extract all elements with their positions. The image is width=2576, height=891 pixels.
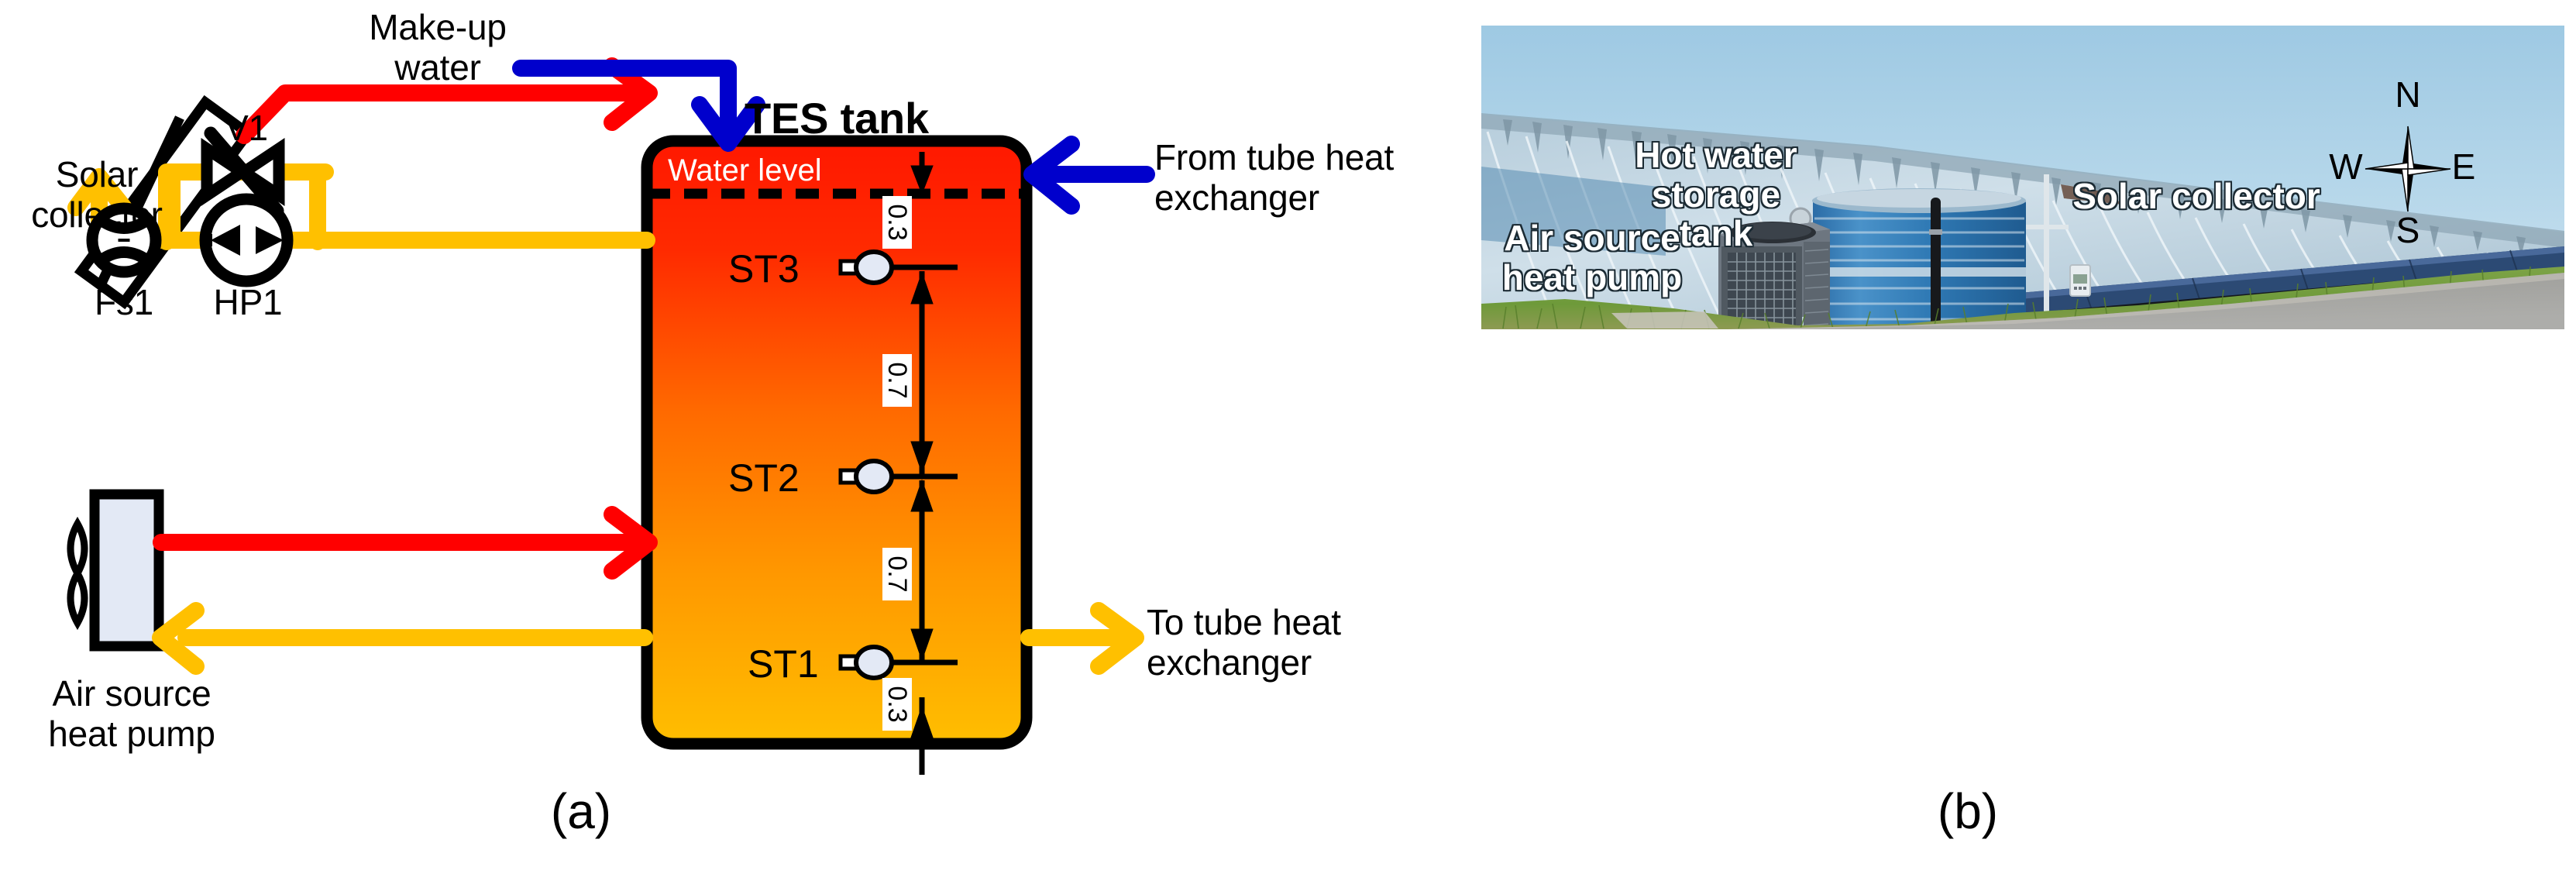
supply-to-tube-heat-exchanger [1029, 611, 1136, 666]
dimension-value-st2-st1: 0.7 [882, 548, 912, 600]
dimension-value-top: 0.3 [882, 196, 912, 249]
solar-collector-label: Solar collector [0, 155, 194, 235]
compass-west-label: W [2323, 146, 2369, 187]
panel-b-photo: Hot water storage tank Air source heat p… [1472, 0, 2576, 891]
water-level-label: Water level [668, 153, 822, 188]
controller-box [2070, 265, 2090, 296]
valve-v1-label: V1 [188, 108, 304, 149]
tes-tank-body [647, 141, 1027, 744]
to-tube-heat-exchanger-label: To tube heat exchanger [1147, 603, 1472, 683]
tes-tank-title: TES tank [682, 95, 992, 143]
compass-north-label: N [2385, 74, 2431, 115]
panel-a-schematic: Make-up water TES tank From tube heat ex… [0, 0, 1472, 891]
from-tube-heat-exchanger-label: From tube heat exchanger [1154, 138, 1480, 218]
compass-south-label: S [2385, 209, 2431, 251]
photo-label-air-source-heat-pump: Air source heat pump [1476, 218, 1708, 297]
concrete-pad [1611, 311, 1718, 329]
dimension-value-st3-st2: 0.7 [882, 354, 912, 407]
hot-supply-heatpump-to-tank [161, 514, 649, 571]
makeup-water-label: Make-up water [310, 8, 566, 88]
support-pole [2044, 174, 2049, 329]
compass-east-label: E [2440, 146, 2487, 187]
from-tube-heat-exchanger-pipe [1032, 144, 1147, 206]
pump-hp1-label: HP1 [190, 283, 306, 323]
air-source-heat-pump-label: Air source heat pump [19, 674, 244, 754]
flow-sensor-fs1-label: Fs1 [74, 283, 174, 323]
sensor-label-st2: ST2 [728, 456, 800, 501]
dimension-value-bottom: 0.3 [882, 678, 912, 731]
figure-root: Make-up water TES tank From tube heat ex… [0, 0, 2576, 891]
photograph-illustration [1472, 0, 2576, 891]
sensor-label-st1: ST1 [748, 642, 819, 686]
sensor-label-st3: ST3 [728, 246, 800, 291]
return-tank-to-heatpump [160, 611, 645, 666]
photo-label-solar-collector: Solar collector [2053, 177, 2340, 216]
air-source-heat-pump-unit [71, 494, 159, 646]
figure-caption-a: (a) [465, 783, 697, 840]
figure-caption-b: (b) [1852, 783, 2084, 840]
